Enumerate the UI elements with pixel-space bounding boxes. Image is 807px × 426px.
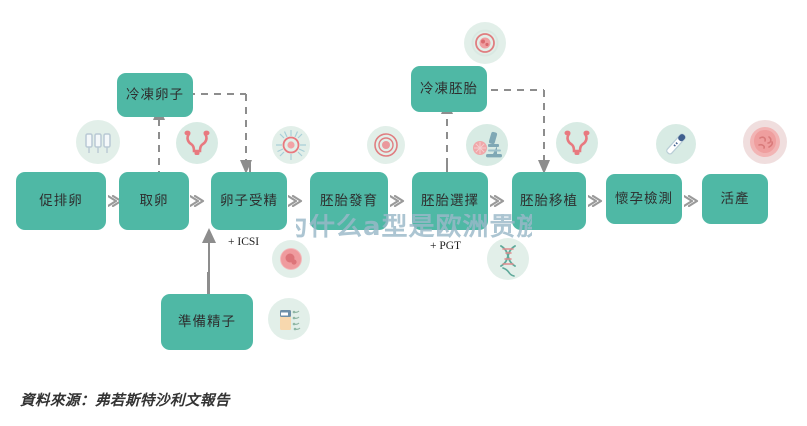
step-embryo-development[interactable]: 胚胎發育 [310,172,388,230]
step-egg-retrieval-label: 取卵 [140,193,169,209]
step-egg-retrieval[interactable]: 取卵 [119,172,189,230]
aux-step-frozen-eggs-label: 冷凍卵子 [126,87,184,103]
aux-step-frozen-embryo[interactable]: 冷凍胚胎 [411,66,487,112]
step-embryo-transfer-label: 胚胎移植 [520,193,578,209]
step-ovulation-induction-label: 促排卵 [39,193,83,209]
sperm-around-egg-icon [272,126,310,164]
arrow-step-2-to-3 [190,195,206,207]
dna-helix-icon [487,238,529,280]
step-embryo-development-label: 胚胎發育 [320,193,378,209]
aux-step-frozen-embryo-label: 冷凍胚胎 [420,81,478,97]
sublabel-icsi: + ICSI [228,236,259,248]
step-egg-fertilization[interactable]: 卵子受精 [211,172,287,230]
step-embryo-selection[interactable]: 胚胎選擇 [412,172,488,230]
aux-step-frozen-eggs[interactable]: 冷凍卵子 [117,73,193,117]
sublabel-pgt: + PGT [430,240,461,252]
arrow-step-4-to-5 [390,195,406,207]
step-pregnancy-test-label: 懷孕檢測 [615,191,673,207]
blastocyst-icon [464,22,506,64]
step-embryo-selection-label: 胚胎選擇 [421,193,479,209]
uterus-icon [176,122,218,164]
uterus-icon [556,122,598,164]
connector-sperm-to-fertilization [196,228,222,302]
embryo-pink-icon [272,240,310,278]
aux-step-prepare-sperm-label: 準備精子 [178,314,236,330]
arrow-step-5-to-6 [490,195,506,207]
sperm-sample-icon [268,298,310,340]
connector-sperm-stub [207,272,209,296]
step-ovulation-induction[interactable]: 促排卵 [16,172,106,230]
arrow-step-3-to-4 [288,195,304,207]
embryo-cell-icon [367,126,405,164]
diagram-canvas: 冷凍卵子 冷凍胚胎 準備精子 促排卵 取卵 卵子受精 胚胎發育 胚胎選擇 胚胎移… [0,0,807,426]
step-pregnancy-test[interactable]: 懷孕檢測 [606,174,682,224]
source-note: 資料來源：弗若斯特沙利文報告 [20,389,230,410]
microscope-icon [466,124,508,166]
pregnancy-test-icon [656,124,696,164]
step-embryo-transfer[interactable]: 胚胎移植 [512,172,586,230]
step-live-birth-label: 活產 [721,191,750,207]
arrow-step-7-to-8 [684,195,700,207]
fetus-icon [743,120,787,164]
step-live-birth[interactable]: 活產 [702,174,768,224]
vials-icon [76,120,120,164]
aux-step-prepare-sperm[interactable]: 準備精子 [161,294,253,350]
arrow-step-6-to-7 [588,195,604,207]
step-egg-fertilization-label: 卵子受精 [220,193,278,209]
